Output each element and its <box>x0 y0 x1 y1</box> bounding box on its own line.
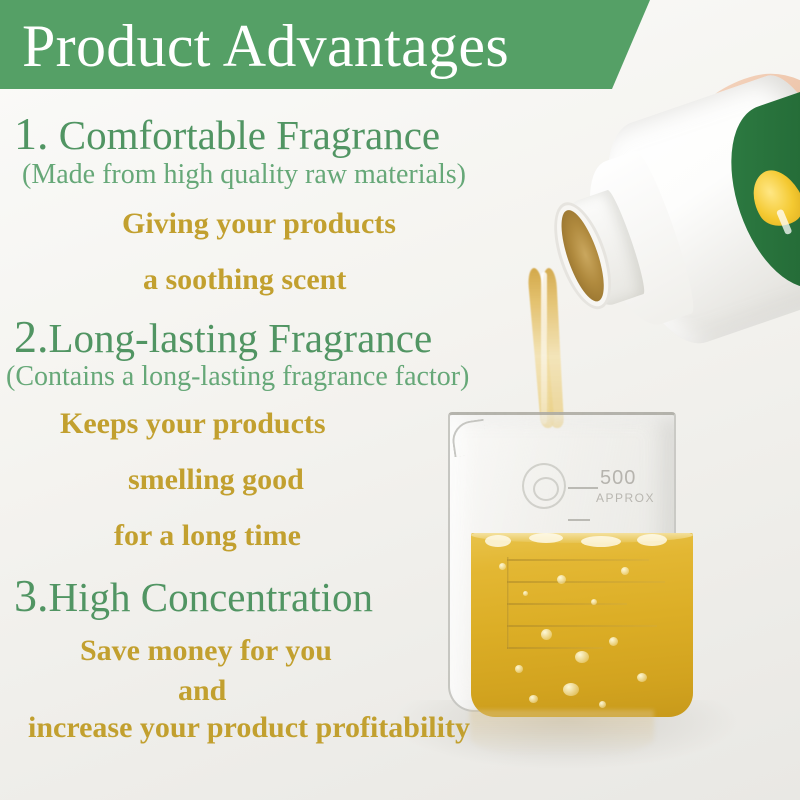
advantage-1-number: 1. <box>14 108 49 159</box>
advantage-3-number: 3. <box>14 570 49 621</box>
advantage-1-title: Comfortable Fragrance <box>59 112 440 158</box>
advantages-copy-column: 1. Comfortable Fragrance (Made from high… <box>0 89 640 800</box>
advantage-1-heading: 1. Comfortable Fragrance <box>14 108 440 161</box>
advantage-2-heading: 2.Long-lasting Fragrance <box>14 311 432 364</box>
advantage-1-benefit-line: Giving your products <box>122 202 396 246</box>
foam-bubble <box>637 534 667 546</box>
advantage-3-benefit-line: Save money for you <box>80 629 332 673</box>
advantage-2-number: 2. <box>14 311 49 362</box>
advantage-2-benefit-line: Keeps your products <box>60 402 326 446</box>
advantage-2-subtitle: (Contains a long-lasting fragrance facto… <box>6 359 469 395</box>
leaf-icon <box>742 162 800 235</box>
advantage-3-heading: 3.High Concentration <box>14 570 373 623</box>
advantage-1-benefit-line: a soothing scent <box>143 258 346 302</box>
advantage-2-title: Long-lasting Fragrance <box>49 315 433 361</box>
advantage-3-title: High Concentration <box>49 574 374 620</box>
advantage-3-benefit-line: increase your product profitability <box>28 706 470 750</box>
advantage-2-benefit-line: smelling good <box>128 458 304 502</box>
advantage-2-benefit-line: for a long time <box>114 514 301 558</box>
product-advantages-poster: Product Advantages 500 APPROX <box>0 0 800 800</box>
advantage-1-subtitle: (Made from high quality raw materials) <box>22 157 466 193</box>
page-title: Product Advantages <box>22 4 509 88</box>
